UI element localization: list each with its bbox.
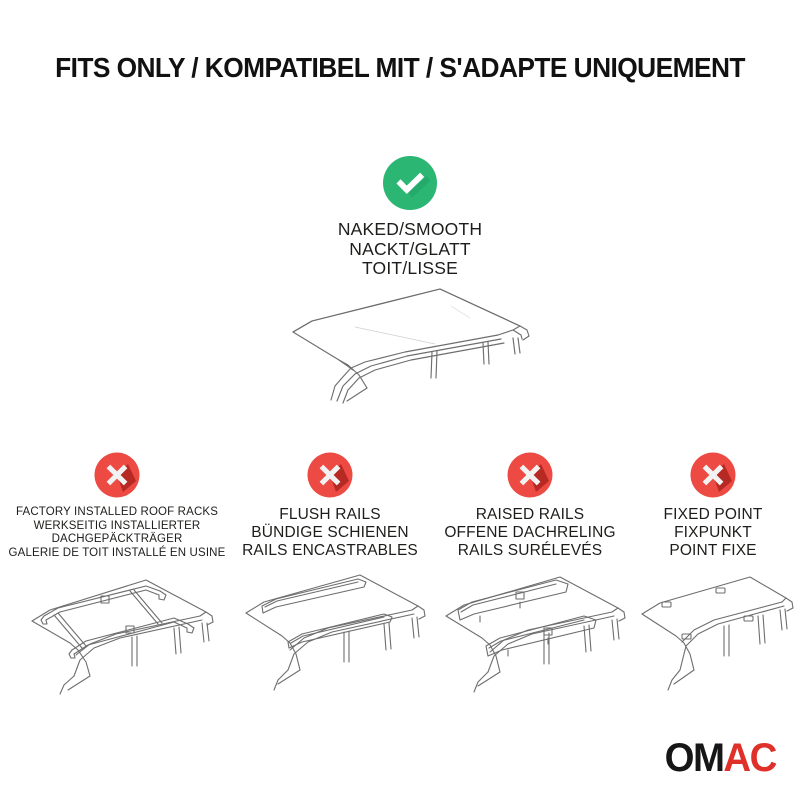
compatible-roof-type-card: NAKED/SMOOTH NACKT/GLATT TOIT/LISSE	[250, 155, 570, 279]
compatible-label-line-2: NACKT/GLATT	[250, 240, 570, 260]
car-roof-naked-smooth-illustration	[255, 282, 565, 407]
incompatible-label-line-1: FIXED POINT	[632, 506, 794, 524]
car-roof-raised-rails-illustration	[428, 558, 632, 698]
page-title: FITS ONLY / KOMPATIBEL MIT / S'ADAPTE UN…	[24, 52, 776, 84]
incompatible-label-line-1: FACTORY INSTALLED ROOF RACKS	[6, 506, 228, 520]
check-circle-icon	[382, 155, 438, 211]
incompatible-roof-type-card-fixed-point: FIXED POINT FIXPUNKT POINT FIXE	[632, 452, 794, 560]
incompatible-label-line-2: BÜNDIGE SCHIENEN	[232, 524, 428, 542]
cross-circle-icon	[690, 452, 736, 498]
incompatible-roof-type-card-factory-rack: FACTORY INSTALLED ROOF RACKS WERKSEITIG …	[6, 452, 228, 560]
car-roof-fixed-point-illustration	[632, 558, 794, 698]
car-roof-flush-rails-illustration	[232, 558, 428, 698]
logo-text-dark: OM	[665, 736, 724, 780]
incompatible-label-line-2: FIXPUNKT	[632, 524, 794, 542]
compatible-label-line-3: TOIT/LISSE	[250, 259, 570, 279]
cross-circle-icon	[507, 452, 553, 498]
incompatible-roof-type-card-flush-rails: FLUSH RAILS BÜNDIGE SCHIENEN RAILS ENCAS…	[232, 452, 428, 560]
incompatible-roof-type-card-raised-rails: RAISED RAILS OFFENE DACHRELING RAILS SUR…	[428, 452, 632, 560]
logo-text-red: AC	[724, 736, 776, 780]
incompatible-label-line-2: WERKSEITIG INSTALLIERTER	[6, 520, 228, 534]
incompatible-label-line-1: RAISED RAILS	[428, 506, 632, 524]
cross-circle-icon	[94, 452, 140, 498]
omac-logo: OMAC	[665, 738, 776, 778]
incompatible-label-line-2: OFFENE DACHRELING	[428, 524, 632, 542]
cross-circle-icon	[307, 452, 353, 498]
car-roof-factory-rack-illustration	[6, 558, 228, 698]
compatible-label-line-1: NAKED/SMOOTH	[250, 220, 570, 240]
incompatible-label-line-1: FLUSH RAILS	[232, 506, 428, 524]
incompatible-label-line-3: DACHGEPÄCKTRÄGER	[6, 533, 228, 547]
